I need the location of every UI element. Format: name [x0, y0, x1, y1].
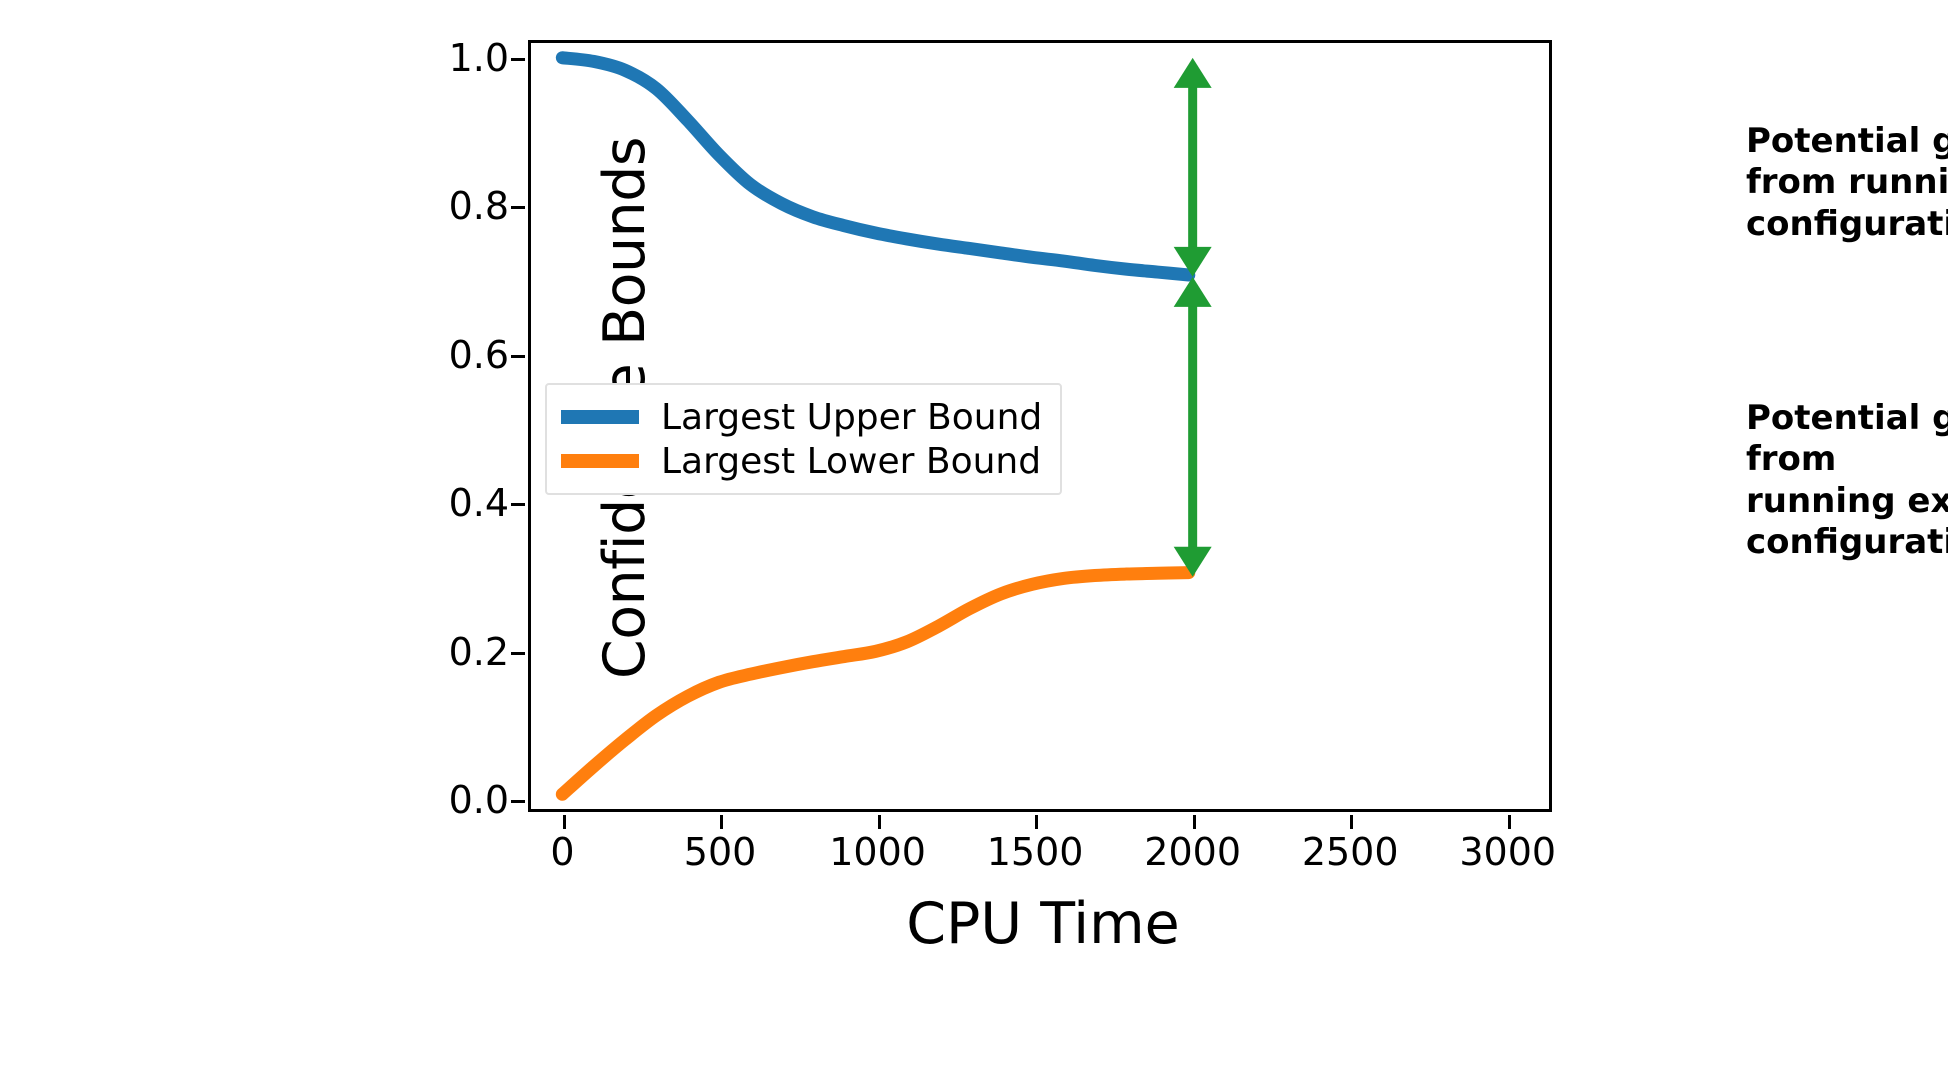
annotation-potential-gain-existing-configurations: Potential gain from running existing con…	[1746, 398, 1948, 564]
y-tick-mark	[511, 652, 525, 655]
double-arrow-existing-configurations	[1174, 277, 1212, 577]
x-tick-label: 3000	[1408, 833, 1608, 871]
annotation-new-line-2: from running new	[1746, 162, 1948, 203]
annotation-existing-line-1: Potential gain from	[1746, 398, 1948, 481]
x-tick-mark	[720, 815, 723, 829]
y-tick-label: 0.8	[309, 187, 509, 225]
annotation-existing-line-2: running existing	[1746, 481, 1948, 522]
x-tick-mark	[1508, 815, 1511, 829]
annotation-new-line-1: Potential gain	[1746, 121, 1948, 162]
y-tick-mark	[511, 206, 525, 209]
double-arrow-new-configurations	[1174, 58, 1212, 277]
arrow-head-up	[1174, 277, 1212, 307]
y-tick-mark	[511, 355, 525, 358]
y-tick-label: 0.6	[309, 336, 509, 374]
x-axis-title: CPU Time	[531, 891, 1555, 957]
arrow-head-up	[1174, 58, 1212, 88]
x-tick-mark	[1350, 815, 1353, 829]
plot-area: 0.00.20.40.60.81.0 050010001500200025003…	[528, 40, 1552, 812]
x-tick-mark	[878, 815, 881, 829]
y-tick-mark	[511, 58, 525, 61]
annotation-existing-line-3: configurations	[1746, 522, 1948, 563]
x-tick-mark	[1035, 815, 1038, 829]
y-tick-mark	[511, 800, 525, 803]
y-tick-mark	[511, 503, 525, 506]
arrow-head-down	[1174, 547, 1212, 577]
y-tick-label: 1.0	[309, 39, 509, 77]
y-tick-label: 0.2	[309, 633, 509, 671]
x-tick-mark	[1193, 815, 1196, 829]
annotation-arrow-layer	[531, 43, 1555, 815]
x-tick-mark	[563, 815, 566, 829]
y-tick-label: 0.0	[309, 781, 509, 819]
chart-figure: 0.00.20.40.60.81.0 050010001500200025003…	[0, 0, 1948, 1072]
arrow-head-down	[1174, 247, 1212, 277]
y-tick-label: 0.4	[309, 484, 509, 522]
annotation-new-line-3: configurations	[1746, 204, 1948, 245]
annotation-potential-gain-new-configurations: Potential gain from running new configur…	[1746, 121, 1948, 245]
